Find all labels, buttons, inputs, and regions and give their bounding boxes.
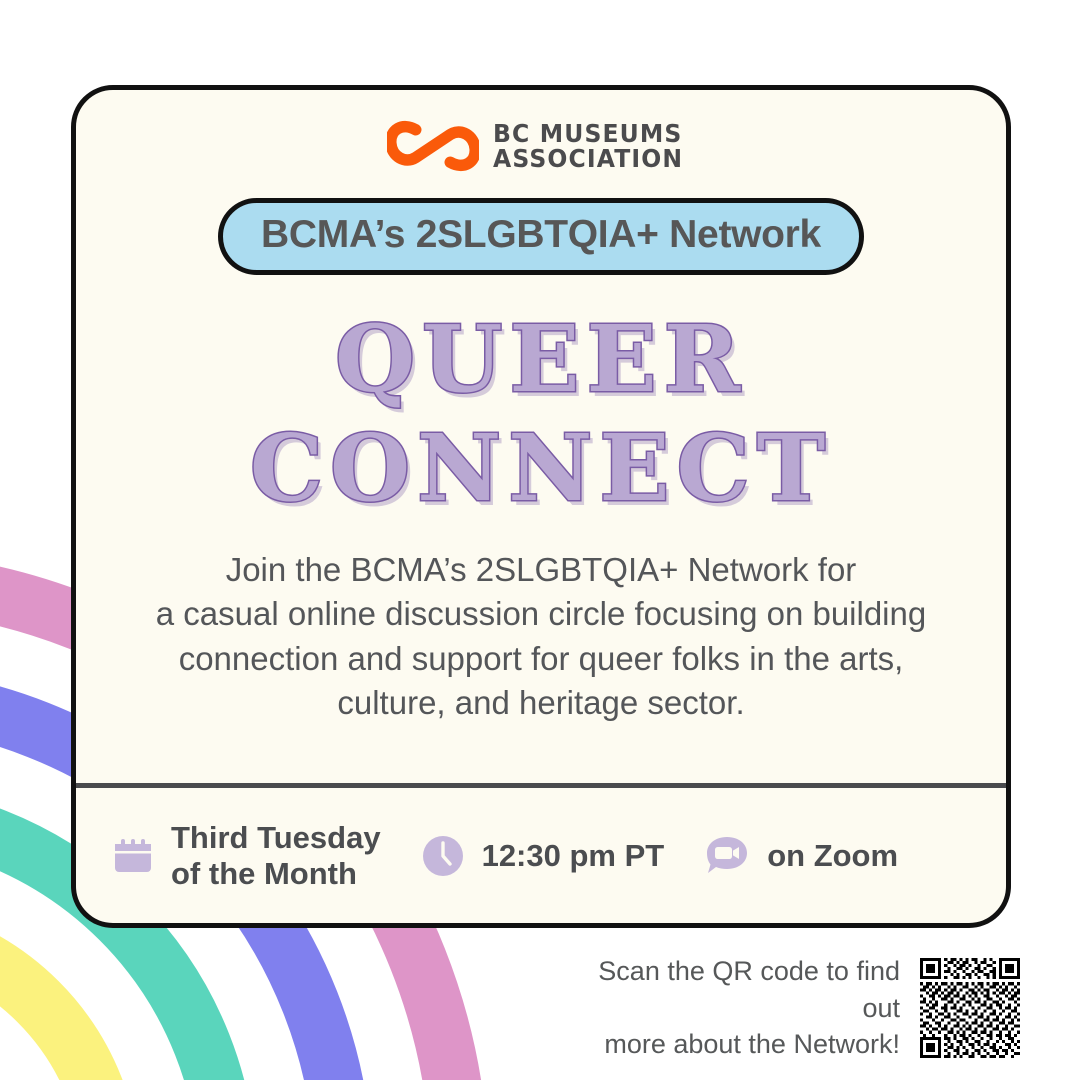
detail-platform: on Zoom — [702, 831, 898, 881]
headline-line-2: CONNECT — [76, 414, 1006, 523]
network-banner: BCMA’s 2SLGBTQIA+ Network — [218, 198, 864, 275]
detail-date: Third Tuesday of the Month — [110, 820, 381, 892]
logo-wordmark: BC MUSEUMS ASSOCIATION — [493, 121, 695, 172]
description-line-4: culture, and heritage sector. — [122, 681, 960, 725]
detail-date-label: Third Tuesday of the Month — [171, 820, 381, 892]
description-line-2: a casual online discussion circle focusi… — [122, 592, 960, 636]
logo-line-1: BC MUSEUMS — [493, 121, 683, 147]
qr-code-icon[interactable] — [920, 957, 1020, 1059]
description-line-3: connection and support for queer folks i… — [122, 637, 960, 681]
page-title: QUEER CONNECT — [76, 305, 1006, 522]
logo-line-2: ASSOCIATION — [493, 146, 683, 172]
description-line-1: Join the BCMA’s 2SLGBTQIA+ Network for — [122, 548, 960, 592]
qr-caption: Scan the QR code to find out more about … — [560, 953, 900, 1062]
poster-root: BC MUSEUMS ASSOCIATION BCMA’s 2SLGBTQIA+… — [0, 0, 1080, 1080]
detail-time: 12:30 pm PT — [419, 832, 665, 880]
video-chat-icon — [702, 831, 752, 881]
calendar-icon — [110, 833, 156, 879]
headline-line-1: QUEER — [76, 305, 1006, 414]
main-card: BC MUSEUMS ASSOCIATION BCMA’s 2SLGBTQIA+… — [71, 85, 1011, 928]
qr-section: Scan the QR code to find out more about … — [560, 952, 1020, 1064]
event-details-row: Third Tuesday of the Month 12:30 pm PT o… — [76, 788, 1006, 923]
bcma-logo: BC MUSEUMS ASSOCIATION — [76, 118, 1006, 174]
detail-platform-label: on Zoom — [767, 838, 898, 874]
banner-container: BCMA’s 2SLGBTQIA+ Network — [76, 198, 1006, 275]
clock-icon — [419, 832, 467, 880]
infinity-mark-icon — [387, 118, 479, 174]
description-text: Join the BCMA’s 2SLGBTQIA+ Network for a… — [76, 548, 1006, 725]
detail-time-label: 12:30 pm PT — [482, 838, 665, 874]
